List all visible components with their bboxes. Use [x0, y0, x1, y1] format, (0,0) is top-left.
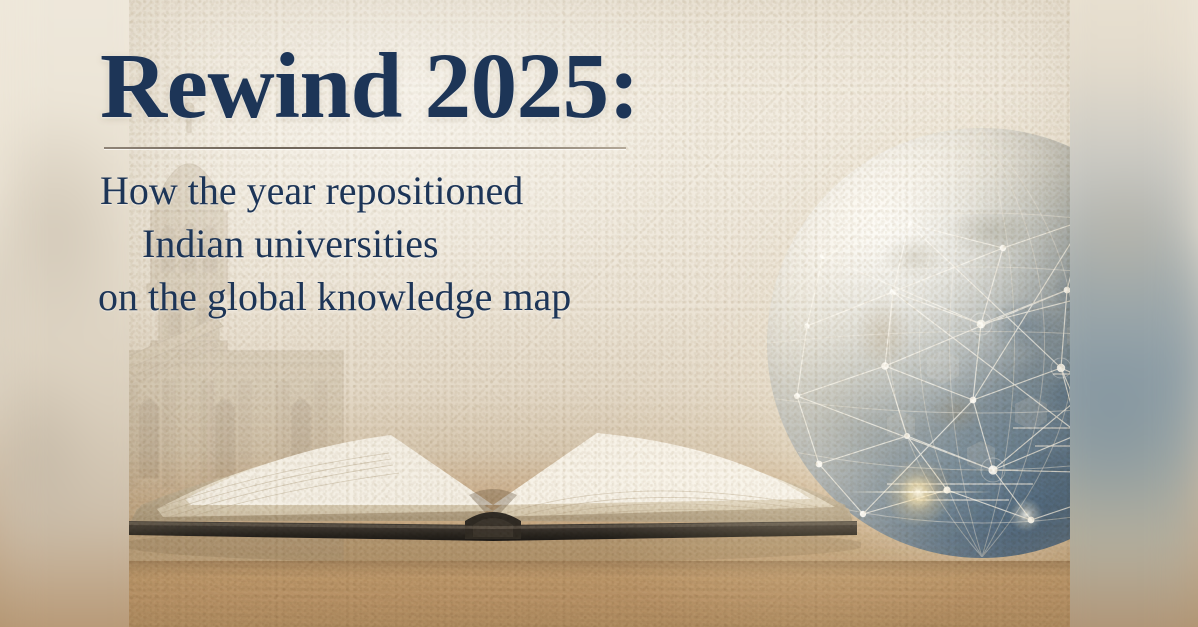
globe-sphere — [767, 128, 1070, 558]
open-book-image — [129, 425, 861, 575]
title-divider-rule — [104, 147, 626, 149]
globe-graphic — [715, 18, 1070, 578]
globe-network-overlay — [767, 128, 1070, 558]
page-title: Rewind 2025: — [100, 40, 740, 133]
subtitle-line-1: How the year repositioned — [100, 165, 740, 218]
globe-flare-node-primary — [883, 458, 953, 528]
page-subtitle: How the year repositioned Indian univers… — [100, 165, 740, 323]
title-card-canvas: Rewind 2025: How the year repositioned I… — [0, 0, 1198, 627]
wooden-table-surface — [129, 561, 1070, 627]
subtitle-line-3: on the global knowledge map — [98, 271, 740, 324]
subtitle-line-2: Indian universities — [142, 218, 740, 271]
globe-landmass — [767, 128, 1070, 558]
globe-flare-node-tertiary — [1009, 498, 1043, 532]
headline-block: Rewind 2025: How the year repositioned I… — [100, 40, 740, 323]
